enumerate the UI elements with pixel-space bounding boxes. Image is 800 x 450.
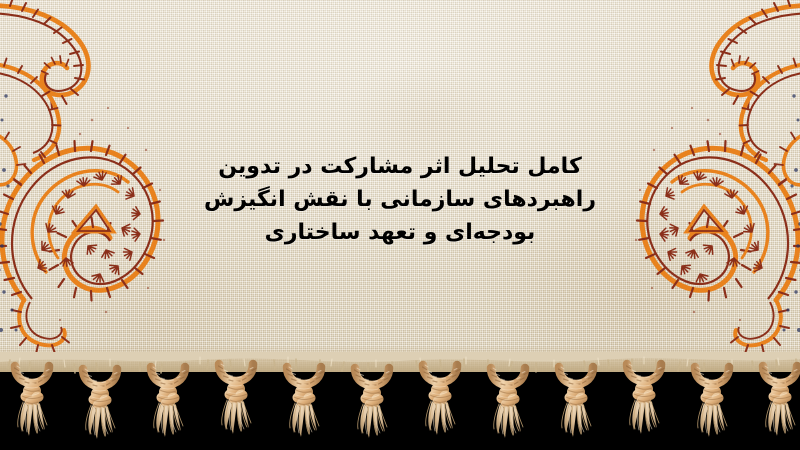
title-line-2: راهبردهای سازمانی با نقش انگیزش <box>150 183 650 216</box>
embroidered-fabric-panel: کامل تحلیل اثر مشارکت در تدوین راهبردهای… <box>0 0 800 372</box>
artwork-canvas: کامل تحلیل اثر مشارکت در تدوین راهبردهای… <box>0 0 800 450</box>
title-line-3: بودجه‌ای و تعهد ساختاری <box>150 216 650 249</box>
page-title: کامل تحلیل اثر مشارکت در تدوین راهبردهای… <box>150 150 650 249</box>
tassel-fringe <box>0 352 800 450</box>
title-line-1: کامل تحلیل اثر مشارکت در تدوین <box>150 150 650 183</box>
